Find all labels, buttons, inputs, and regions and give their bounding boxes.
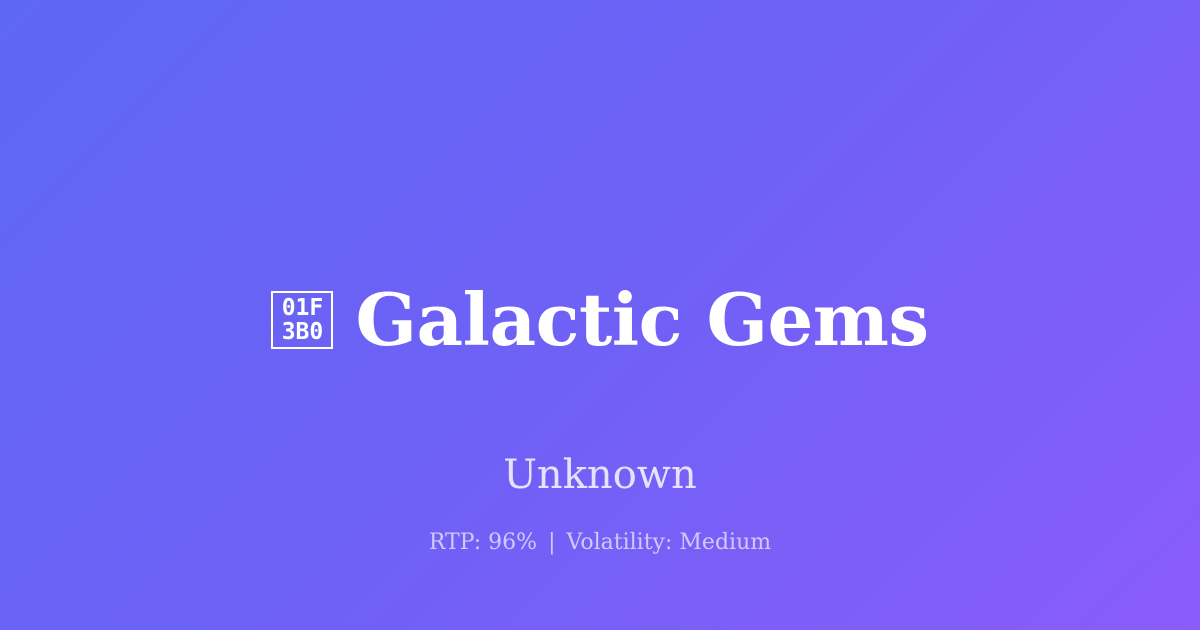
tofu-codepoint-top: 01F <box>282 296 324 320</box>
volatility-value: Medium <box>679 530 771 555</box>
og-card: 01F 3B0 Galactic Gems Unknown RTP: 96% |… <box>0 0 1200 630</box>
hero-block: 01F 3B0 Galactic Gems Unknown <box>0 232 1200 498</box>
rtp-value: 96% <box>488 530 537 555</box>
slot-machine-icon: 01F 3B0 <box>271 291 333 349</box>
tofu-codepoint-bottom: 3B0 <box>282 320 324 344</box>
title-row: 01F 3B0 Galactic Gems <box>271 232 928 408</box>
meta-separator: | <box>544 530 559 555</box>
page-title: Galactic Gems <box>355 280 928 360</box>
page-subtitle: Unknown <box>503 452 697 498</box>
volatility-label: Volatility: <box>567 530 673 555</box>
meta-line: RTP: 96% | Volatility: Medium <box>0 529 1200 557</box>
rtp-label: RTP: <box>429 530 481 555</box>
